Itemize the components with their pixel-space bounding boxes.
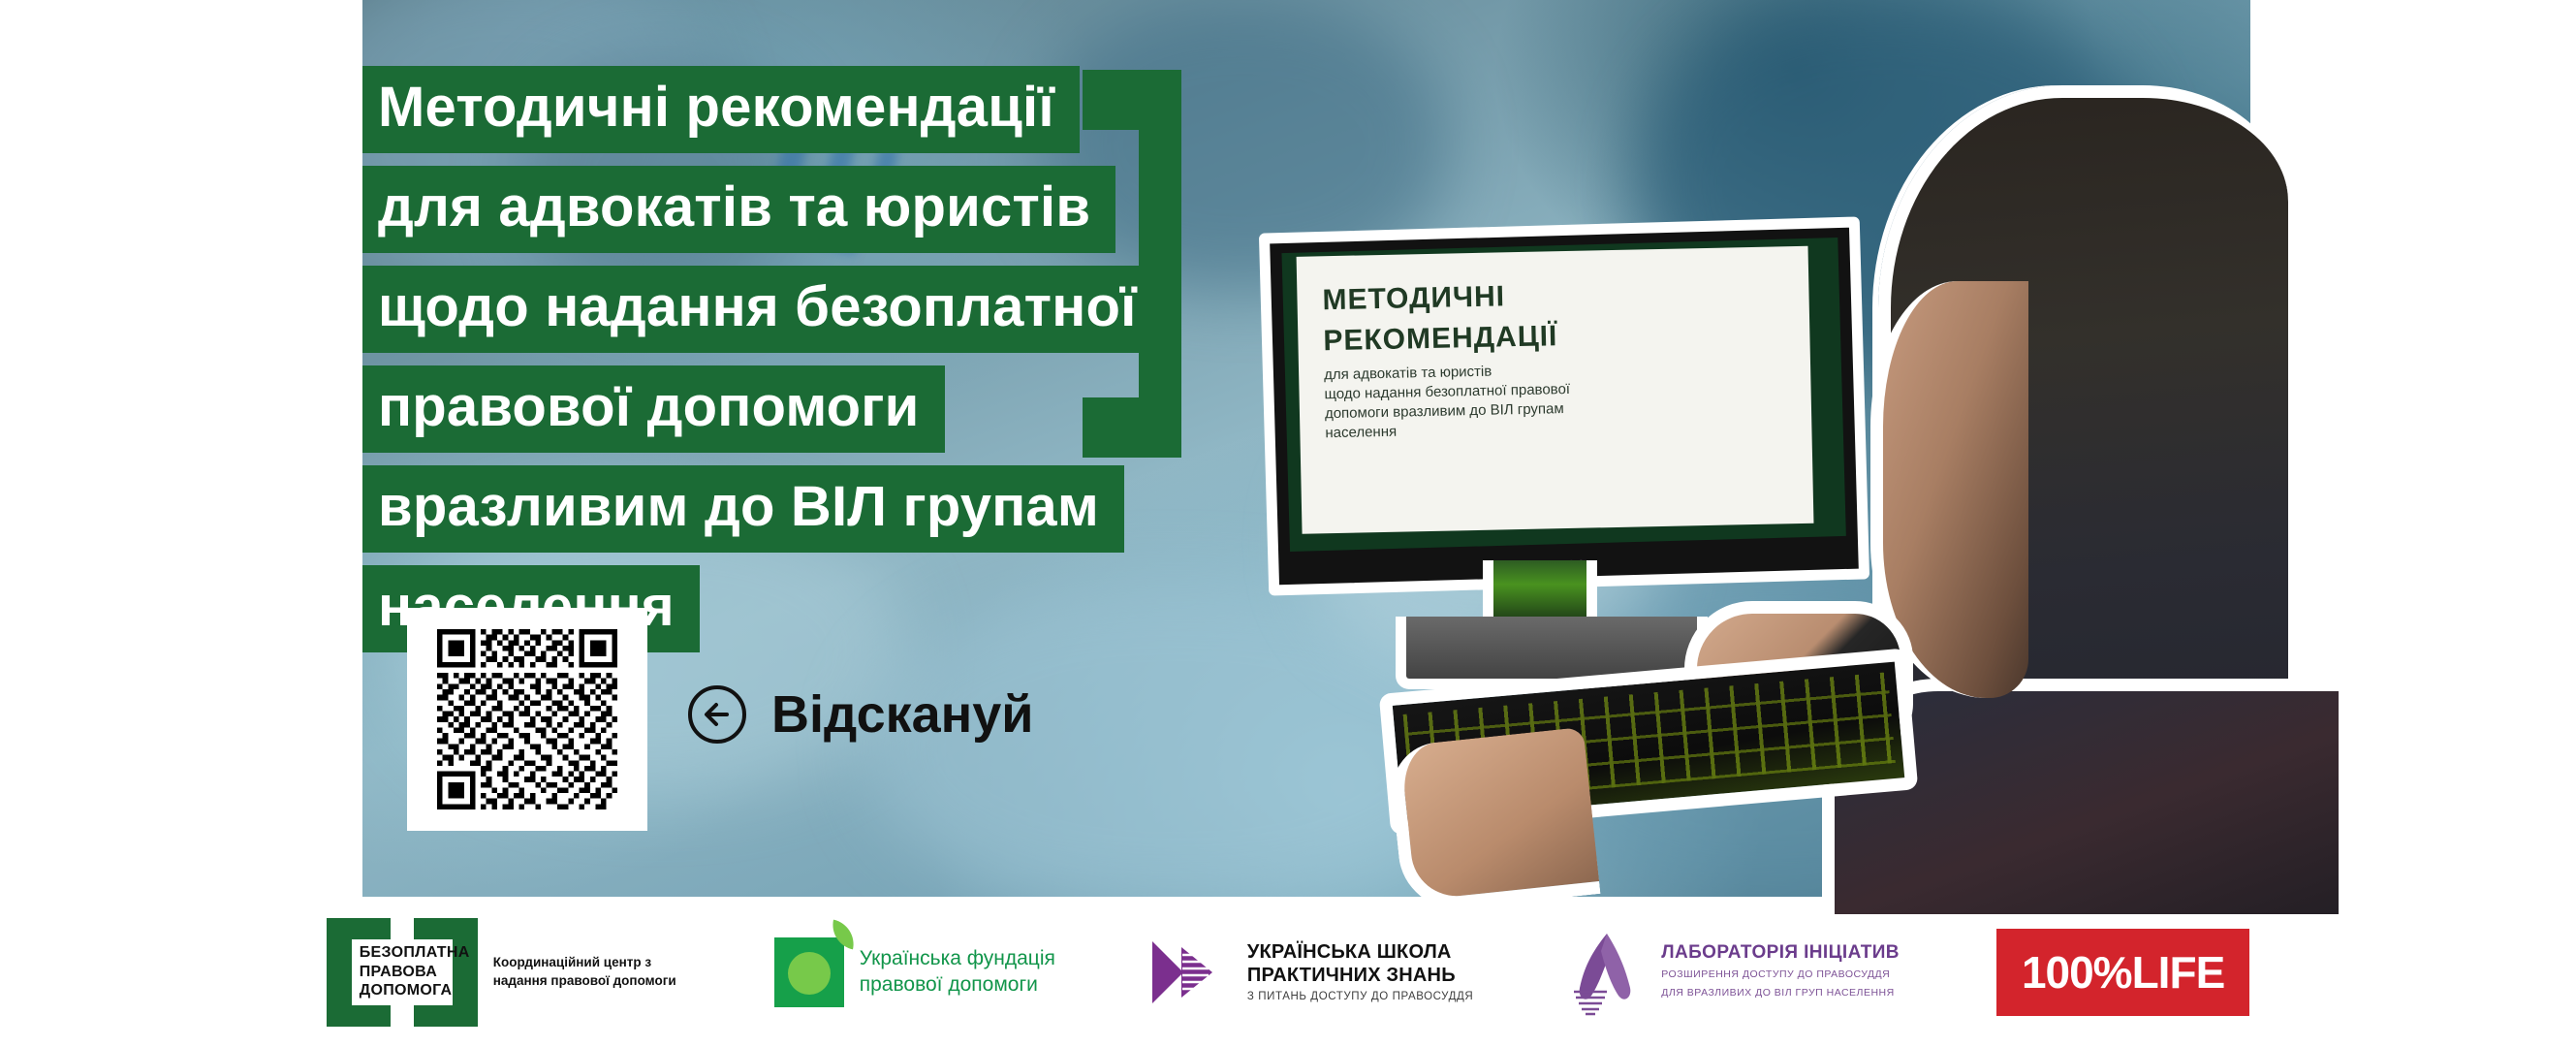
logo-line: Українська фундація [860, 946, 1055, 971]
logo-line: ДОПОМОГА [360, 981, 453, 1000]
logo-line: ПРАВОВА [360, 963, 437, 982]
logo-ukrainska-shkola: УКРАЇНСЬКА ШКОЛА ПРАКТИЧНИХ ЗНАНЬ З ПИТА… [1152, 936, 1473, 1009]
logo-text: Українська фундація правової допомоги [860, 946, 1055, 998]
logo-line: БЕЗОПЛАТНА [360, 943, 470, 963]
logo-text: ЛАБОРАТОРІЯ ІНІЦІАТИВ РОЗШИРЕННЯ ДОСТУПУ… [1661, 942, 1900, 1000]
play-triangles-icon [1152, 936, 1232, 1009]
logo-text: УКРАЇНСЬКА ШКОЛА ПРАКТИЧНИХ ЗНАНЬ З ПИТА… [1247, 941, 1473, 1001]
awareness-ribbon-icon [1570, 928, 1646, 1017]
green-circle-icon [774, 937, 844, 1007]
logo-bezoplatna-pravova-dopomoga: БЕЗОПЛАТНА ПРАВОВА ДОПОМОГА Координаційн… [327, 918, 677, 1027]
headline-line: для адвокатів та юристів [362, 166, 1115, 253]
logo-line: ПРАКТИЧНИХ ЗНАНЬ [1247, 965, 1473, 988]
logo-text: 100%LIFE [2022, 950, 2224, 995]
logo-ukrainska-fundatsiya: Українська фундація правової допомоги [774, 937, 1055, 1007]
logo-subtitle: РОЗШИРЕННЯ ДОСТУПУ ДО ПРАВОСУДДЯ [1661, 968, 1900, 982]
partner-logos-bar: БЕЗОПЛАТНА ПРАВОВА ДОПОМОГА Координаційн… [0, 897, 2576, 1047]
scan-label: Відскануй [771, 688, 1034, 741]
bracket-frame-icon: БЕЗОПЛАТНА ПРАВОВА ДОПОМОГА [327, 918, 478, 1027]
arrow-left-circle-icon [686, 683, 748, 746]
qr-code-panel[interactable] [407, 608, 647, 831]
logo-line: УКРАЇНСЬКА ШКОЛА [1247, 941, 1473, 965]
logo-line: правової допомоги [860, 972, 1055, 998]
logo-subtitle: Координаційний центр з надання правової … [493, 954, 677, 990]
headline-line: правової допомоги [362, 365, 945, 453]
headline-line: Методичні рекомендації [362, 66, 1080, 153]
headline-line: щодо надання безоплатної [362, 266, 1162, 353]
logo-laboratoriya-initsiativ: ЛАБОРАТОРІЯ ІНІЦІАТИВ РОЗШИРЕННЯ ДОСТУПУ… [1570, 928, 1900, 1017]
headline-line: вразливим до ВІЛ групам [362, 465, 1124, 553]
headline-block: Методичні рекомендації для адвокатів та … [362, 66, 1506, 665]
logo-100-life: 100%LIFE [1996, 929, 2249, 1016]
poster-root: МЕТОДИЧНІ РЕКОМЕНДАЦІЇ для адвокатів та … [0, 0, 2576, 1047]
qr-code-icon[interactable] [437, 629, 617, 809]
scan-cta[interactable]: Відскануй [686, 683, 1034, 746]
logo-subtitle: З ПИТАНЬ ДОСТУПУ ДО ПРАВОСУДДЯ [1247, 991, 1473, 1002]
hand-on-keyboard [1388, 727, 1601, 914]
logo-line: ЛАБОРАТОРІЯ ІНІЦІАТИВ [1661, 942, 1900, 964]
leaf-icon [828, 919, 858, 949]
logo-subtitle: ДЛЯ ВРАЗЛИВИХ ДО ВІЛ ГРУП НАСЕЛЕННЯ [1661, 986, 1900, 1000]
